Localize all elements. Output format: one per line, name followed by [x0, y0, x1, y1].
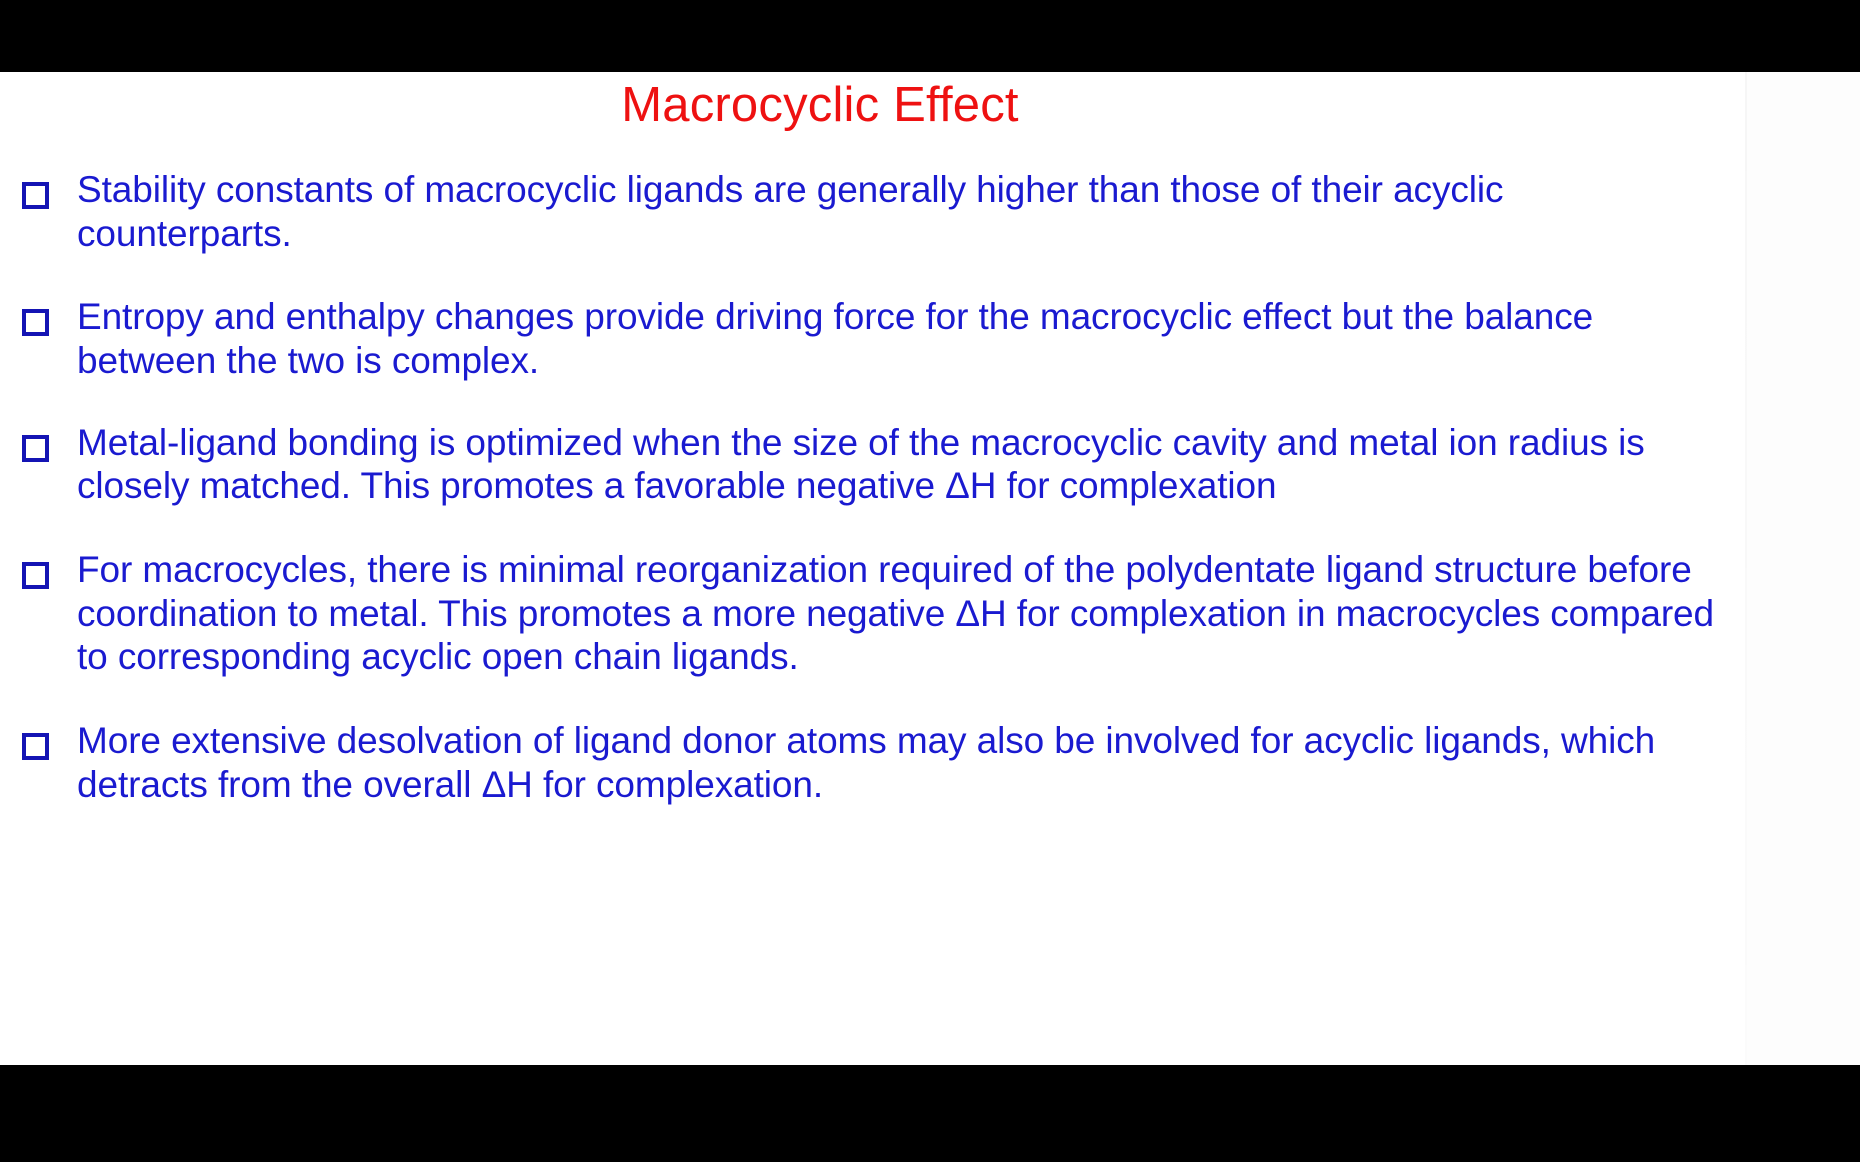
hollow-square-bullet-icon — [22, 733, 49, 760]
page-title: Macrocyclic Effect — [0, 80, 1640, 131]
slide-viewer: Macrocyclic Effect Stability constants o… — [0, 0, 1860, 1162]
hollow-square-bullet-icon — [22, 182, 49, 209]
list-item: Entropy and enthalpy changes provide dri… — [22, 295, 1722, 382]
list-item-text: Metal-ligand bonding is optimized when t… — [77, 421, 1717, 508]
page-right-margin — [1747, 72, 1860, 1065]
list-item-text: Stability constants of macrocyclic ligan… — [77, 168, 1717, 255]
slide-canvas: Macrocyclic Effect Stability constants o… — [0, 72, 1860, 1065]
list-item-text: For macrocycles, there is minimal reorga… — [77, 548, 1717, 679]
list-item-text: Entropy and enthalpy changes provide dri… — [77, 295, 1717, 382]
list-item: Stability constants of macrocyclic ligan… — [22, 168, 1722, 255]
letterbox-bar-top — [0, 0, 1860, 72]
list-item-text: More extensive desolvation of ligand don… — [77, 719, 1717, 806]
list-item: For macrocycles, there is minimal reorga… — [22, 548, 1722, 679]
bullet-list: Stability constants of macrocyclic ligan… — [22, 168, 1722, 806]
page-edge-line — [1745, 72, 1747, 1065]
list-item: Metal-ligand bonding is optimized when t… — [22, 421, 1722, 508]
list-item: More extensive desolvation of ligand don… — [22, 719, 1722, 806]
hollow-square-bullet-icon — [22, 309, 49, 336]
letterbox-bar-bottom — [0, 1065, 1860, 1162]
hollow-square-bullet-icon — [22, 562, 49, 589]
hollow-square-bullet-icon — [22, 435, 49, 462]
